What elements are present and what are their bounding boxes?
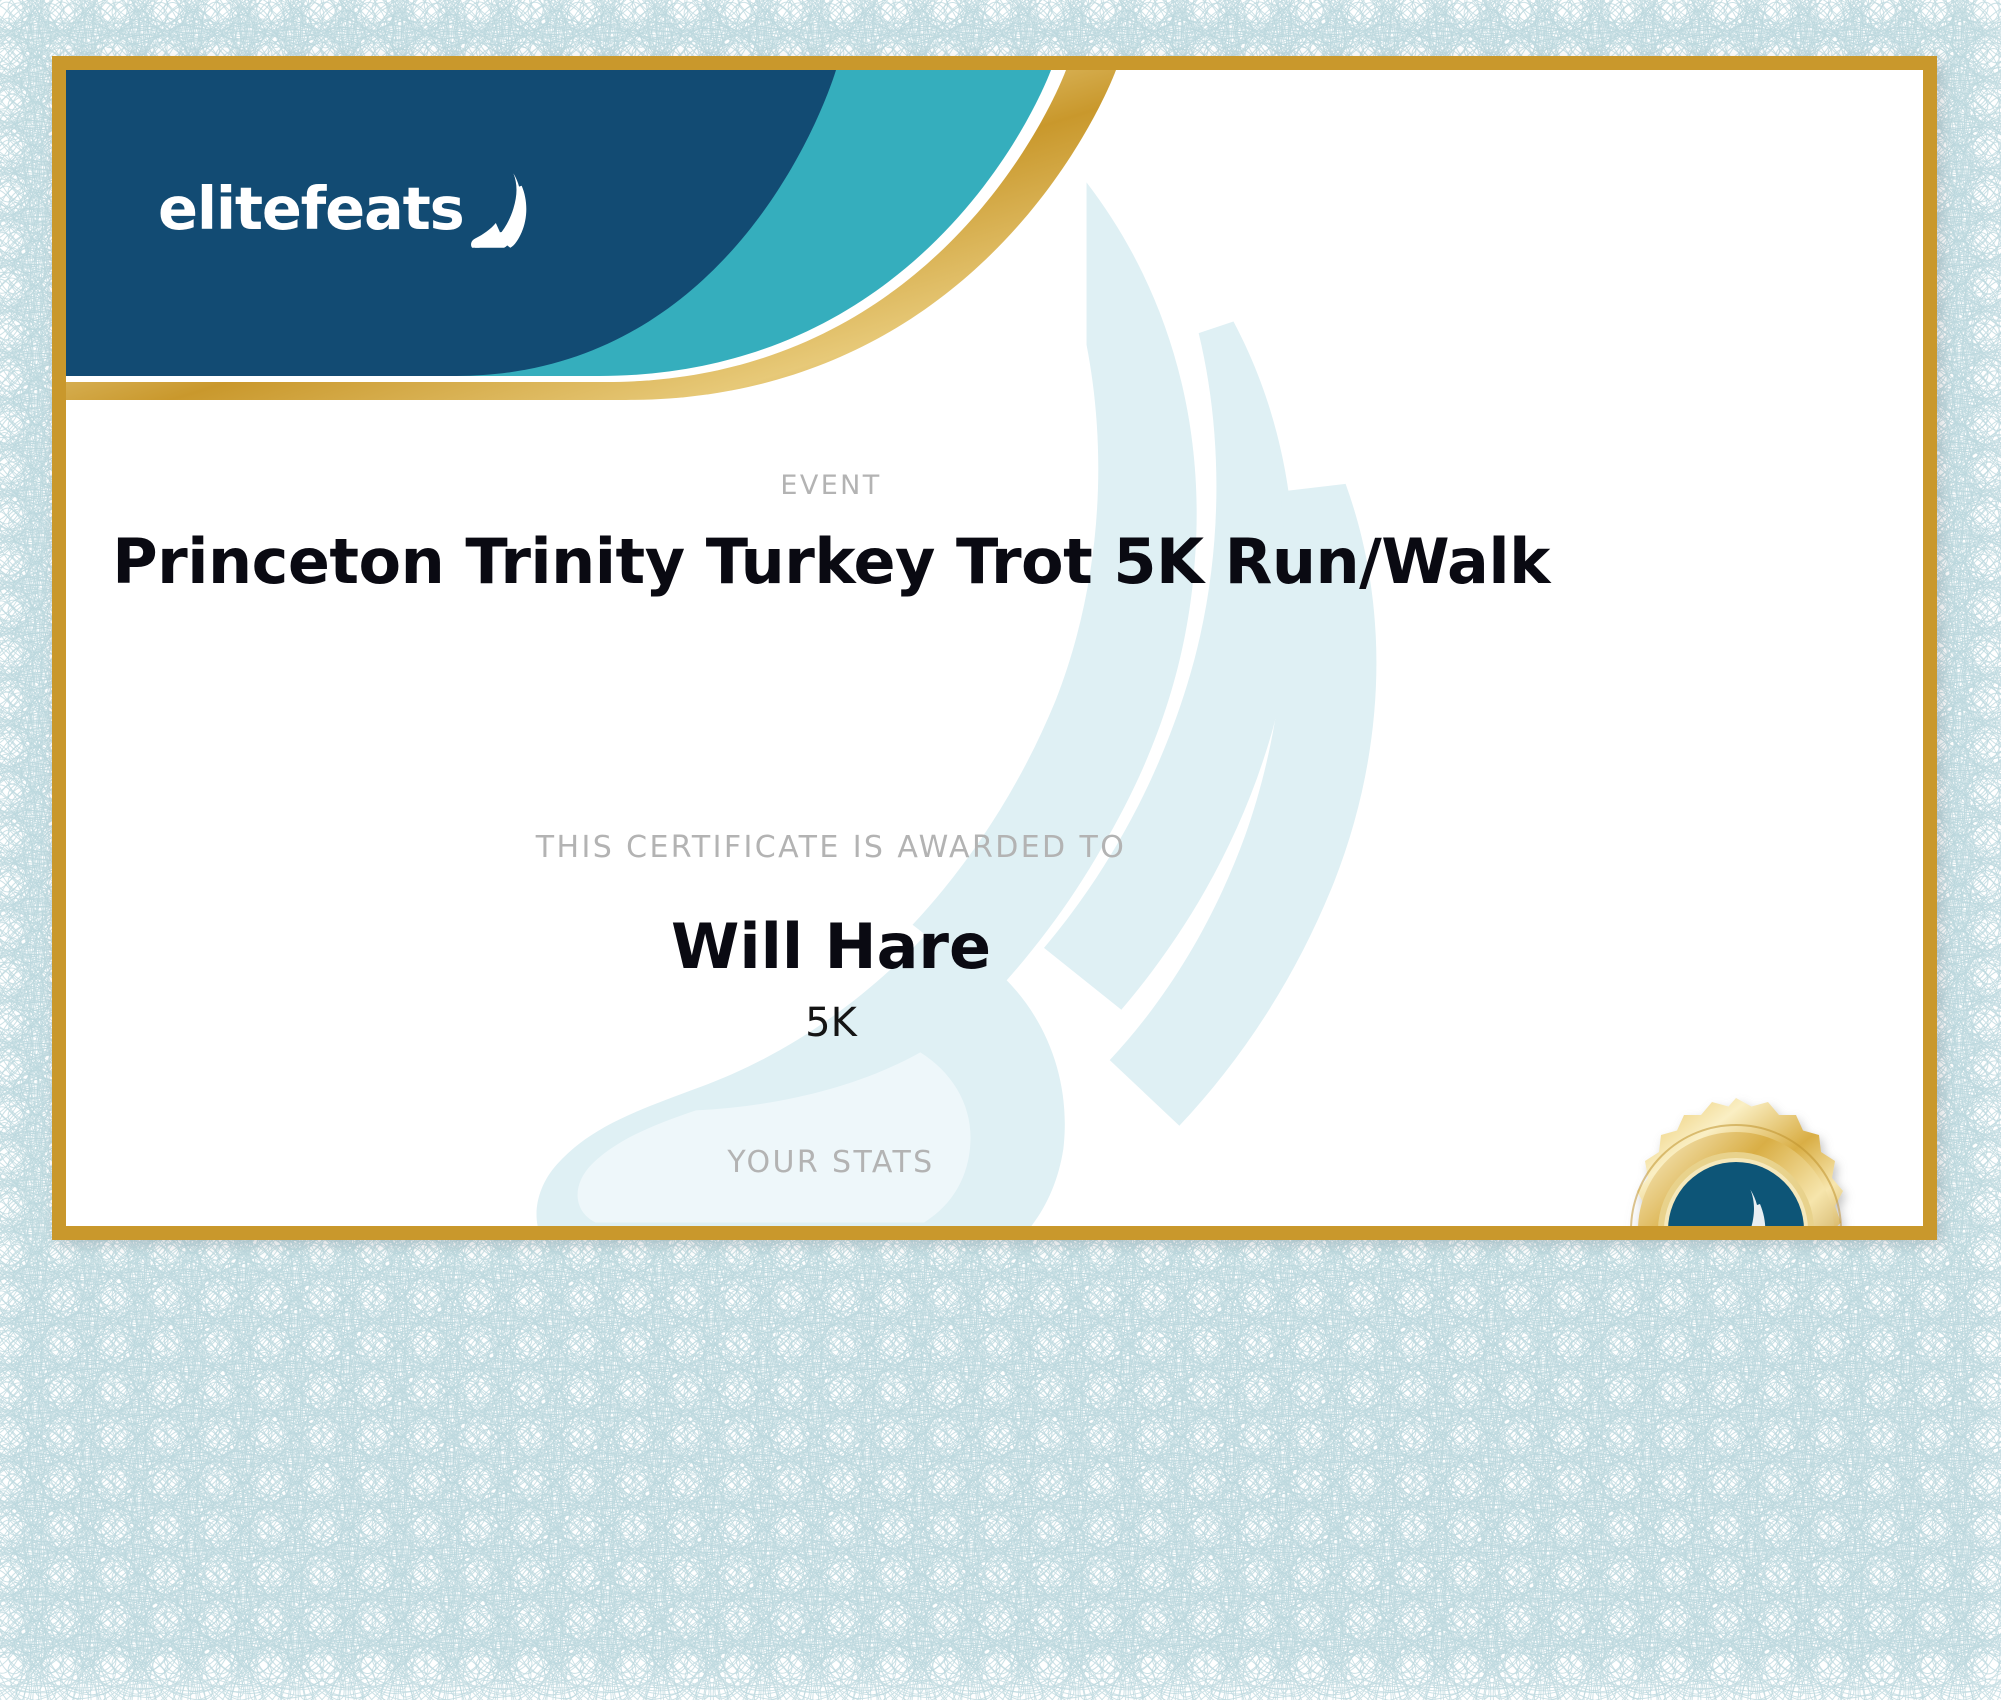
certificate-content: EVENT Princeton Trinity Turkey Trot 5K R… — [66, 70, 1923, 1226]
your-stats-label: YOUR STATS — [66, 1145, 1596, 1180]
race-distance: 5K — [66, 1000, 1596, 1046]
certificate-frame: elitefeats EVENT Princeton Trinity — [52, 56, 1937, 1240]
event-label: EVENT — [66, 470, 1596, 501]
recipient-name: Will Hare — [66, 910, 1596, 983]
event-title: Princeton Trinity Turkey Trot 5K Run/Wal… — [66, 525, 1596, 598]
certificate-body: elitefeats EVENT Princeton Trinity — [66, 70, 1923, 1226]
finisher-medal-badge: 2025 — [1586, 1080, 1886, 1226]
awarded-to-label: THIS CERTIFICATE IS AWARDED TO — [66, 830, 1596, 865]
certificate-page: elitefeats EVENT Princeton Trinity — [0, 0, 2001, 1700]
